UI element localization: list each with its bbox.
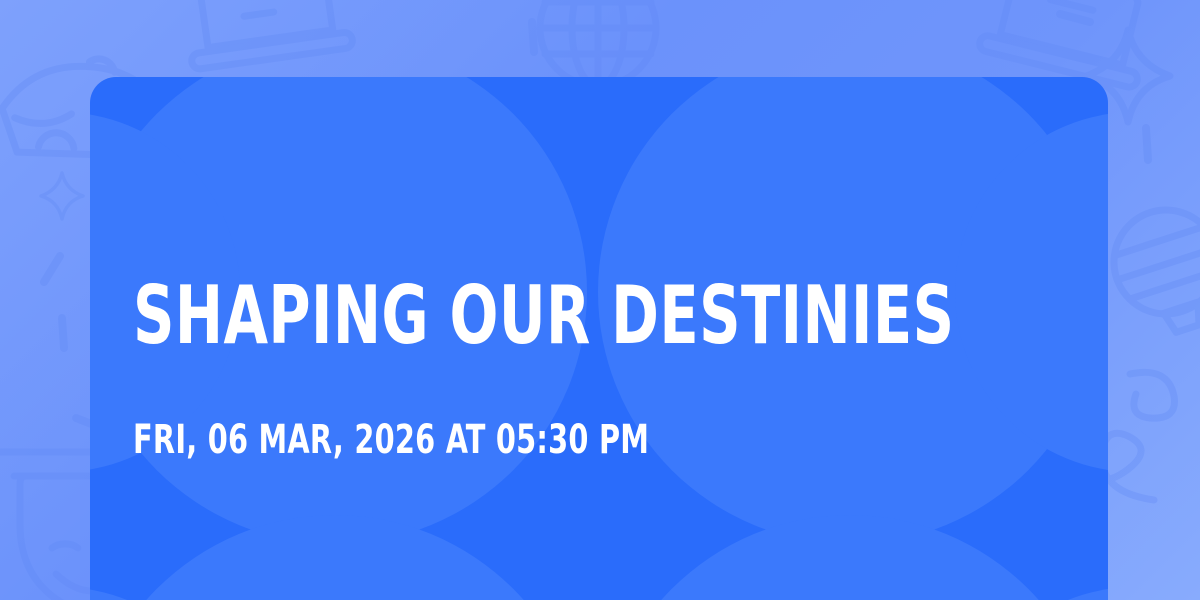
card-content: SHAPING OUR DESTINIES FRI, 06 MAR, 2026 …	[133, 77, 1073, 600]
balloon-icon	[1100, 196, 1200, 344]
globe-icon	[540, 0, 656, 86]
sparkle-icon	[41, 173, 83, 219]
laptop-icon	[180, 0, 353, 70]
event-poster: SHAPING OUR DESTINIES FRI, 06 MAR, 2026 …	[0, 0, 1200, 600]
event-datetime: FRI, 06 MAR, 2026 AT 05:30 PM	[133, 417, 649, 463]
event-title: SHAPING OUR DESTINIES	[133, 273, 954, 359]
event-card: SHAPING OUR DESTINIES FRI, 06 MAR, 2026 …	[90, 77, 1108, 600]
